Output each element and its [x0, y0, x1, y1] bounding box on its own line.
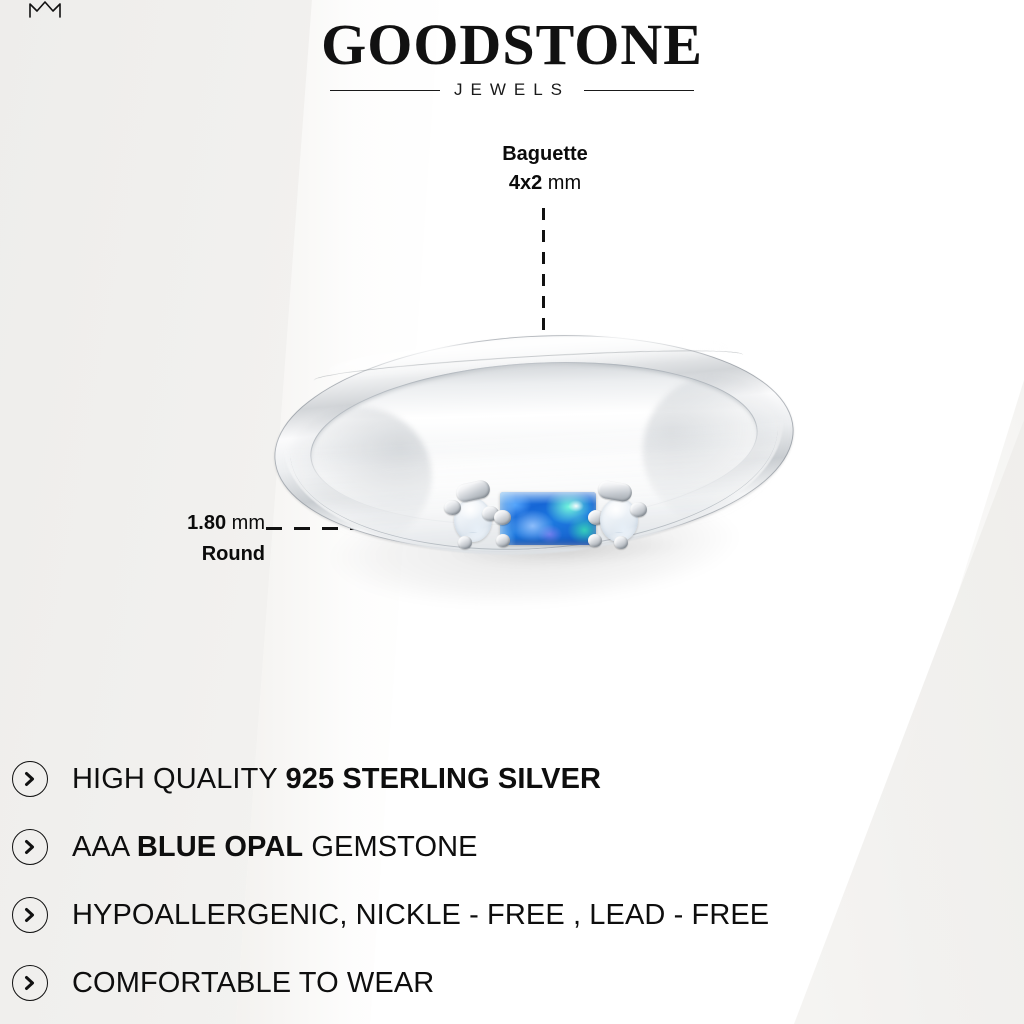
list-item: HIGH QUALITY 925 STERLING SILVER — [0, 745, 1024, 813]
feature-text-post: GEMSTONE — [303, 831, 477, 863]
side-stone-right-facets — [606, 505, 632, 533]
feature-text-pre: HIGH QUALITY — [72, 763, 285, 795]
callout-round-size: 1.80 — [187, 512, 226, 534]
prong-left-bottom — [458, 536, 472, 549]
feature-text-strong: 925 STERLING SILVER — [285, 763, 601, 795]
feature-text-pre: COMFORTABLE TO WEAR — [72, 967, 434, 999]
feature-text-pre: HYPOALLERGENIC, NICKLE - FREE , LEAD - F… — [72, 899, 769, 931]
callout-round-label: Round — [120, 539, 265, 570]
feature-text: AAA BLUE OPAL GEMSTONE — [72, 831, 478, 864]
center-stone-opal — [500, 492, 596, 545]
feature-text: HIGH QUALITY 925 STERLING SILVER — [72, 763, 601, 796]
chevron-right-circle-icon — [12, 761, 48, 797]
ring-product-image — [252, 330, 812, 630]
callout-baguette: Baguette 4x2 mm — [430, 140, 660, 198]
callout-baguette-unit: mm — [548, 172, 581, 194]
feature-text-strong: BLUE OPAL — [137, 831, 303, 863]
brand-tagline-row: JEWELS — [0, 80, 1024, 100]
chevron-right-circle-icon — [12, 829, 48, 865]
product-infographic: GOODSTONE JEWELS Baguette 4x2 mm 1.80 mm… — [0, 0, 1024, 1024]
list-item: COMFORTABLE TO WEAR — [0, 949, 1024, 1017]
prong-right-outer — [630, 502, 647, 517]
crown-icon — [28, 1, 62, 19]
chevron-right-circle-icon — [12, 965, 48, 1001]
brand-tagline: JEWELS — [454, 80, 570, 100]
prong-opal-left-top — [494, 510, 511, 525]
prong-opal-left-bottom — [496, 534, 510, 547]
tagline-rule-left — [330, 90, 440, 91]
callout-baguette-label: Baguette — [430, 140, 660, 169]
brand-name: GOODSTONE — [321, 14, 703, 76]
feature-text-pre: AAA — [72, 831, 137, 863]
callout-round: 1.80 mm Round — [120, 508, 265, 570]
callout-baguette-size: 4x2 — [509, 172, 542, 194]
stone-setting — [438, 480, 658, 570]
prong-right-bottom — [614, 536, 628, 549]
list-item: AAA BLUE OPAL GEMSTONE — [0, 813, 1024, 881]
chevron-right-circle-icon — [12, 897, 48, 933]
feature-text: HYPOALLERGENIC, NICKLE - FREE , LEAD - F… — [72, 899, 769, 932]
feature-text: COMFORTABLE TO WEAR — [72, 967, 434, 1000]
feature-list: HIGH QUALITY 925 STERLING SILVER AAA BLU… — [0, 745, 1024, 1017]
tagline-rule-right — [584, 90, 694, 91]
list-item: HYPOALLERGENIC, NICKLE - FREE , LEAD - F… — [0, 881, 1024, 949]
prong-left-outer — [444, 500, 461, 515]
brand-logo: GOODSTONE JEWELS — [0, 14, 1024, 100]
opal-highlight — [568, 500, 584, 512]
